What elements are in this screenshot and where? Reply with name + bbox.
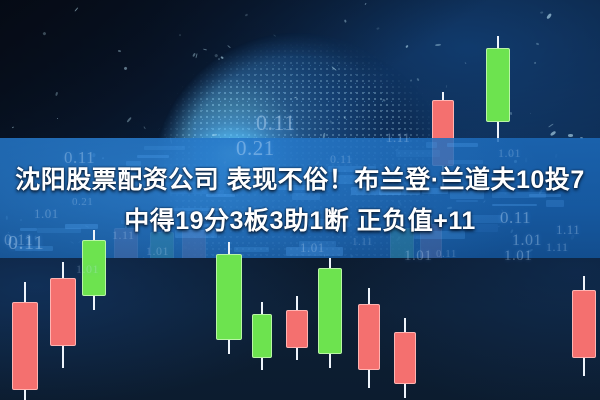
spark-particle bbox=[14, 280, 17, 282]
spark-particle bbox=[73, 378, 74, 380]
spark-particle bbox=[459, 290, 462, 293]
spark-particle bbox=[565, 320, 569, 325]
headline: 沈阳股票配资公司 表现不俗！布兰登·兰道夫10投7 中得19分3板3助1断 正负… bbox=[0, 160, 600, 242]
background-number: 1.01 bbox=[76, 262, 99, 277]
spark-particle bbox=[179, 34, 182, 36]
spark-particle bbox=[88, 373, 92, 376]
spark-particle bbox=[58, 294, 61, 297]
spark-particle bbox=[244, 13, 248, 17]
spark-particle bbox=[583, 322, 586, 324]
spark-particle bbox=[95, 334, 98, 335]
spark-particle bbox=[546, 14, 551, 20]
spark-particle bbox=[464, 62, 466, 64]
spark-particle bbox=[172, 269, 175, 271]
candlestick-body bbox=[486, 48, 510, 122]
spark-particle bbox=[530, 113, 532, 115]
spark-particle bbox=[43, 328, 45, 332]
spark-particle bbox=[377, 27, 380, 30]
spark-particle bbox=[532, 304, 534, 308]
candlestick-body bbox=[12, 302, 38, 390]
spark-particle bbox=[510, 111, 512, 114]
spark-particle bbox=[12, 127, 14, 129]
candlestick-body bbox=[572, 290, 596, 358]
spark-particle bbox=[214, 331, 216, 333]
spark-particle bbox=[417, 78, 420, 82]
spark-particle bbox=[551, 374, 556, 380]
spark-particle bbox=[145, 396, 151, 400]
spark-particle bbox=[192, 53, 195, 57]
spark-particle bbox=[80, 316, 82, 318]
spark-particle bbox=[146, 384, 149, 389]
spark-particle bbox=[472, 267, 475, 269]
spark-particle bbox=[548, 123, 554, 127]
candlestick-body bbox=[50, 278, 76, 346]
spark-particle bbox=[118, 50, 121, 52]
spark-particle bbox=[25, 301, 29, 305]
spark-particle bbox=[485, 355, 488, 358]
spark-particle bbox=[118, 330, 120, 332]
spark-particle bbox=[568, 134, 573, 137]
spark-particle bbox=[55, 92, 58, 96]
spark-particle bbox=[208, 310, 212, 315]
news-banner-image: 0.110.110.111.011.010.211.110.110.211.11… bbox=[0, 0, 600, 400]
spark-particle bbox=[391, 301, 396, 304]
spark-particle bbox=[126, 117, 131, 122]
headline-line-1: 沈阳股票配资公司 表现不俗！布兰登·兰道夫10投7 bbox=[0, 160, 600, 201]
spark-particle bbox=[133, 331, 139, 335]
spark-particle bbox=[549, 131, 555, 137]
spark-particle bbox=[267, 381, 270, 385]
spark-particle bbox=[129, 389, 132, 392]
spark-particle bbox=[99, 290, 102, 293]
spark-particle bbox=[203, 49, 207, 51]
candlestick-wick bbox=[404, 318, 406, 398]
spark-particle bbox=[143, 127, 146, 130]
spark-particle bbox=[390, 330, 395, 334]
candlestick-wick bbox=[24, 282, 26, 400]
candlestick-wick bbox=[497, 36, 499, 142]
spark-particle bbox=[490, 321, 493, 324]
spark-particle bbox=[518, 329, 523, 334]
spark-particle bbox=[594, 264, 596, 267]
spark-particle bbox=[541, 11, 544, 13]
spark-particle bbox=[406, 45, 409, 48]
candlestick-body bbox=[394, 332, 416, 384]
spark-particle bbox=[196, 53, 199, 59]
spark-particle bbox=[75, 7, 79, 11]
spark-particle bbox=[57, 389, 59, 392]
spark-particle bbox=[186, 345, 188, 347]
spark-particle bbox=[565, 342, 569, 345]
spark-particle bbox=[431, 310, 434, 312]
spark-particle bbox=[446, 85, 448, 88]
spark-particle bbox=[104, 345, 106, 347]
spark-particle bbox=[435, 44, 441, 47]
headline-line-2: 中得19分3板3助1断 正负值+11 bbox=[0, 201, 600, 242]
spark-particle bbox=[574, 272, 576, 273]
spark-particle bbox=[42, 31, 46, 35]
spark-particle bbox=[457, 291, 462, 296]
spark-particle bbox=[124, 66, 128, 70]
candlestick-wick bbox=[62, 262, 64, 368]
spark-particle bbox=[57, 118, 58, 119]
spark-particle bbox=[344, 19, 347, 22]
spark-particle bbox=[94, 285, 96, 287]
spark-particle bbox=[115, 269, 119, 273]
spark-particle bbox=[129, 369, 133, 373]
spark-particle bbox=[83, 279, 86, 282]
spark-particle bbox=[451, 384, 456, 388]
spark-particle bbox=[364, 2, 366, 4]
candlestick-wick bbox=[583, 276, 585, 376]
spark-particle bbox=[534, 62, 536, 64]
spark-particle bbox=[465, 321, 469, 322]
spark-particle bbox=[536, 42, 540, 45]
